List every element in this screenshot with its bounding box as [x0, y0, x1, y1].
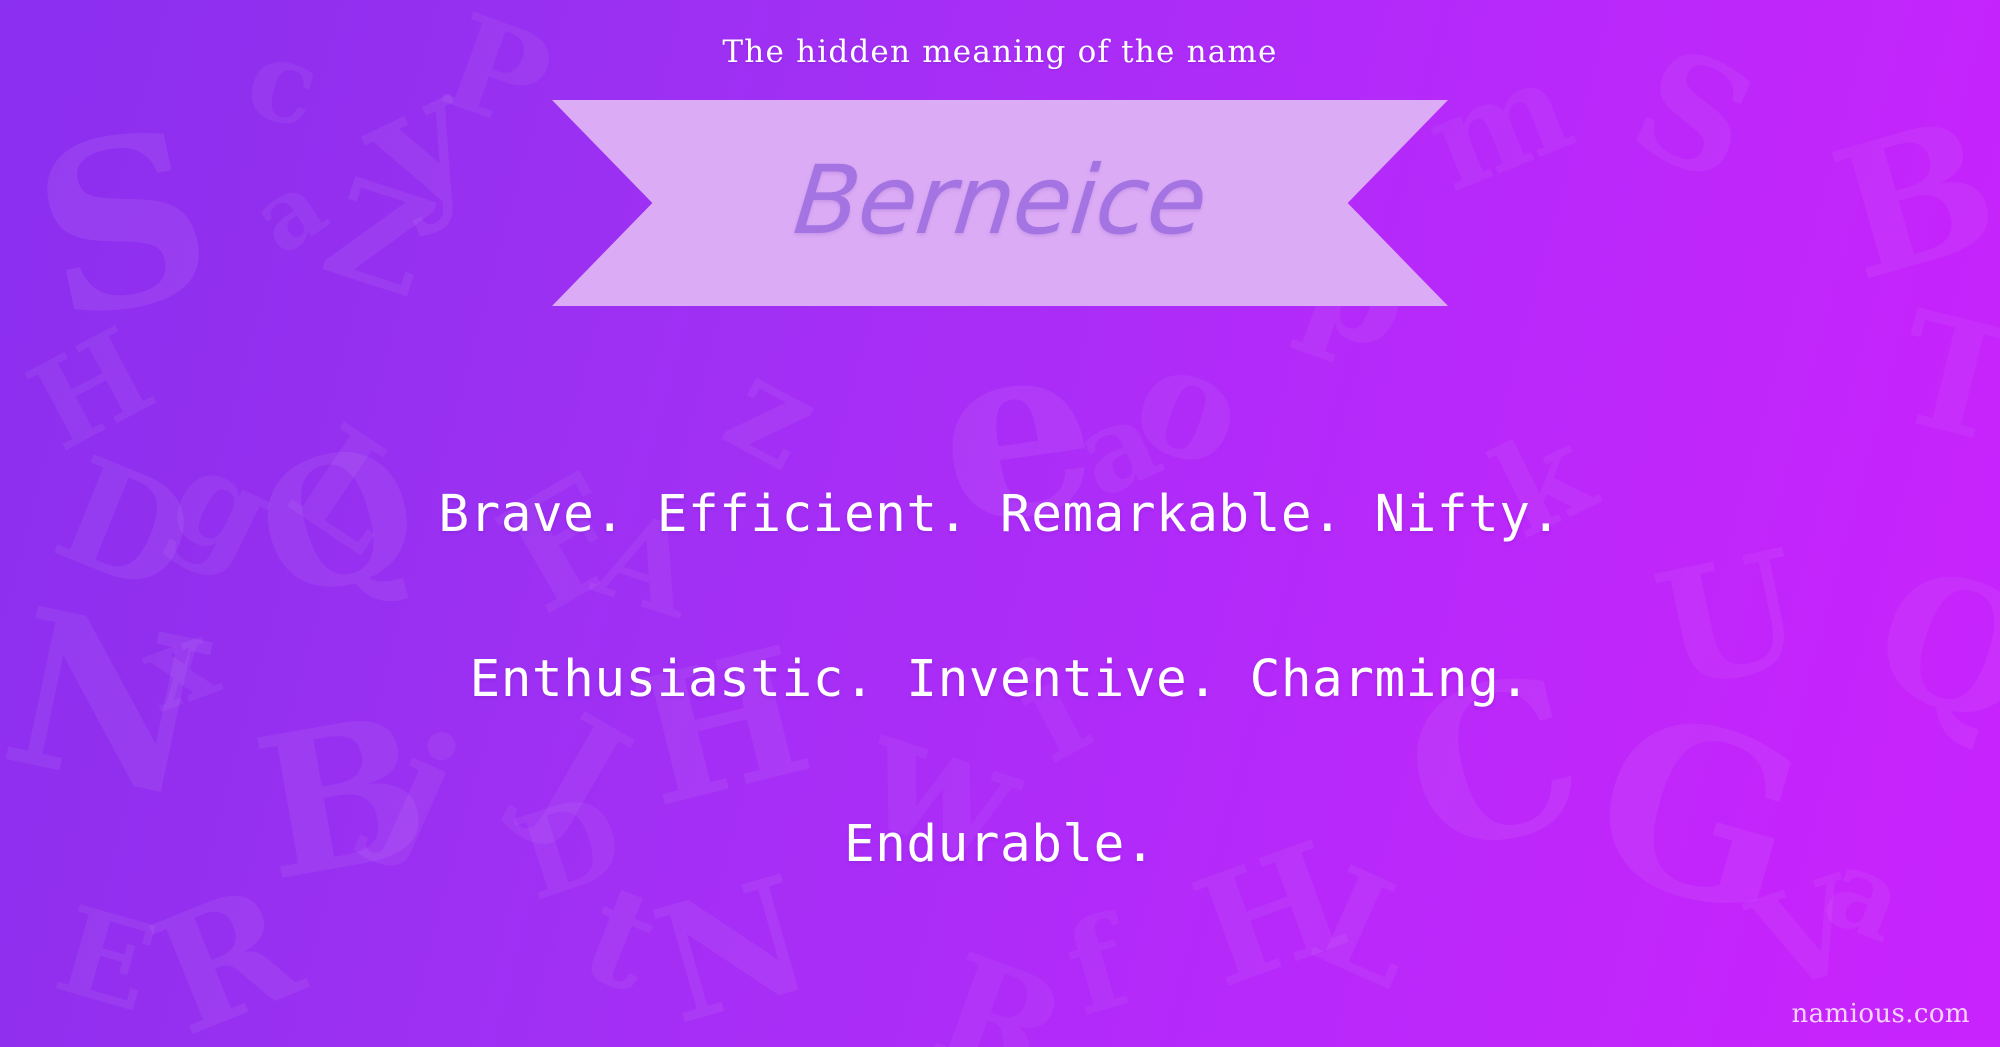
- background-letter: Z: [312, 158, 447, 317]
- page-title: The hidden meaning of the name: [722, 34, 1277, 70]
- meaning-line-3: Endurable.: [0, 762, 2000, 927]
- header: The hidden meaning of the name: [0, 34, 2000, 70]
- meaning-line-1: Brave. Efficient. Remarkable. Nifty.: [0, 432, 2000, 597]
- background-letter: a: [237, 156, 341, 269]
- background-letter: y: [340, 48, 494, 233]
- site-watermark: namious.com: [1792, 999, 1971, 1029]
- footer: namious.com: [1792, 999, 1971, 1029]
- meaning-line-2: Enthusiastic. Inventive. Charming.: [0, 597, 2000, 762]
- meaning-text-block: Brave. Efficient. Remarkable. Nifty. Ent…: [0, 432, 2000, 927]
- name-ribbon-banner: Berneice: [552, 100, 1448, 306]
- background-letter: P: [429, 0, 565, 151]
- background-letter: B: [1818, 93, 2000, 308]
- background-letter: R: [919, 934, 1082, 1047]
- name-meaning-poster: SHZaDQgxNREBjDLyPcFAHzeoatNJCGHLVaUQkpBS…: [0, 0, 2000, 1047]
- name-text: Berneice: [789, 146, 1211, 256]
- background-letter: S: [18, 95, 228, 355]
